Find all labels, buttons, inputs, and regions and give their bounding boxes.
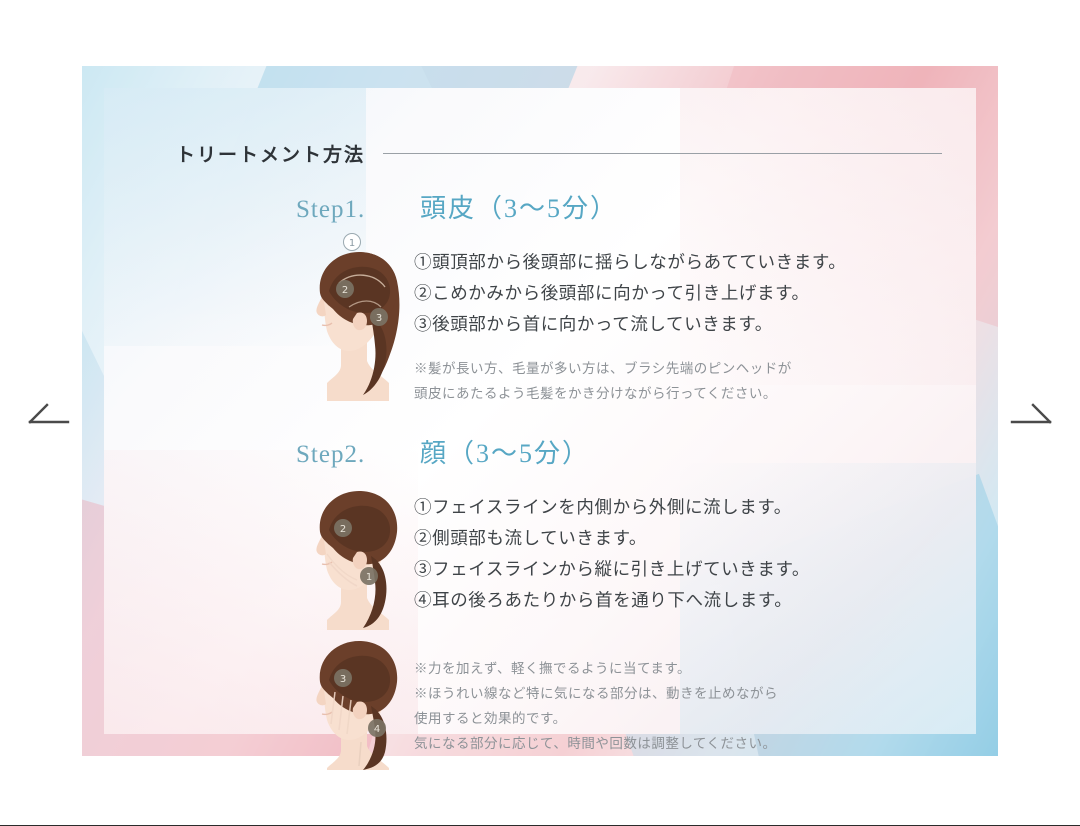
svg-text:4: 4 — [374, 724, 380, 735]
step-2-heading: Step2. 顔（3〜5分） — [104, 433, 976, 470]
step-2-note: ※力を加えず、軽く撫でるように当てます。 — [414, 656, 976, 681]
step-1-instruction: ②こめかみから後頭部に向かって引き上げます。 — [414, 278, 976, 309]
step-2-notes: ※力を加えず、軽く撫でるように当てます。 ※ほうれい線など特に気になる部分は、動… — [414, 656, 976, 756]
step-1-notes: ※髪が長い方、毛量が多い方は、ブラシ先端のピンヘッドが 頭皮にあたるよう毛髪をか… — [414, 356, 976, 406]
step-block-2: Step2. 顔（3〜5分） — [104, 433, 976, 770]
head-face-diagram-upper: 2 1 — [293, 478, 411, 630]
step-2-body: 2 1 ①フェイスラインを内側から外側に流します。 ②側頭部も流していきます。 … — [104, 478, 976, 630]
next-slide-arrow[interactable] — [1008, 396, 1054, 430]
header-divider — [383, 153, 942, 154]
step-2-text-column: ①フェイスラインを内側から外側に流します。 ②側頭部も流していきます。 ③フェイ… — [414, 478, 976, 616]
step-1-body: 1 2 3 ①頭頂部から後頭部に揺らしながらあてていきます。 — [104, 233, 976, 406]
page-title: トリートメント方法 — [176, 140, 365, 167]
head-face-diagram-lower: 3 4 — [293, 634, 411, 770]
svg-text:2: 2 — [340, 524, 346, 535]
step-2-note: 気になる部分に応じて、時間や回数は調整してください。 — [414, 731, 976, 756]
step-2-figure-column-2: 3 4 — [290, 634, 414, 770]
head-scalp-diagram: 1 2 3 — [293, 233, 411, 401]
step-2-instruction: ②側頭部も流していきます。 — [414, 523, 976, 554]
svg-text:3: 3 — [340, 674, 346, 685]
step-1-figure-column: 1 2 3 — [290, 233, 414, 401]
step-block-1: Step1. 頭皮（3〜5分） — [104, 188, 976, 406]
step-2-instruction: ④耳の後ろあたりから首を通り下へ流します。 — [414, 585, 976, 616]
card-sheet: トリートメント方法 Step1. 頭皮（3〜5分） — [104, 88, 976, 734]
previous-slide-arrow[interactable] — [26, 396, 72, 430]
svg-text:1: 1 — [349, 238, 355, 249]
step-2-figure-column: 2 1 — [290, 478, 414, 630]
svg-text:3: 3 — [376, 313, 382, 324]
svg-text:2: 2 — [342, 285, 348, 296]
step-1-text-column: ①頭頂部から後頭部に揺らしながらあてていきます。 ②こめかみから後頭部に向かって… — [414, 233, 976, 406]
treatment-method-slide: トリートメント方法 Step1. 頭皮（3〜5分） — [82, 66, 998, 756]
step-2-secondary-body: 3 4 ※力を加えず、軽く撫でるように当てます。 ※ほうれい線など特に気になる部… — [104, 634, 976, 770]
step-2-subject: 顔（3〜5分） — [420, 433, 590, 470]
step-1-subject: 頭皮（3〜5分） — [420, 188, 618, 225]
step-1-instruction: ③後頭部から首に向かって流していきます。 — [414, 309, 976, 340]
step-2-note: ※ほうれい線など特に気になる部分は、動きを止めながら — [414, 681, 976, 706]
step-2-note: 使用すると効果的です。 — [414, 706, 976, 731]
step-1-note: 頭皮にあたるよう毛髪をかき分けながら行ってください。 — [414, 381, 976, 406]
step-2-label: Step2. — [296, 441, 420, 469]
step-1-heading: Step1. 頭皮（3〜5分） — [104, 188, 976, 225]
svg-text:1: 1 — [366, 572, 372, 583]
step-1-instruction: ①頭頂部から後頭部に揺らしながらあてていきます。 — [414, 247, 976, 278]
step-1-note: ※髪が長い方、毛量が多い方は、ブラシ先端のピンヘッドが — [414, 356, 976, 381]
step-1-label: Step1. — [296, 196, 420, 224]
section-header: トリートメント方法 — [176, 140, 942, 167]
step-2-notes-column: ※力を加えず、軽く撫でるように当てます。 ※ほうれい線など特に気になる部分は、動… — [414, 634, 976, 756]
step-2-instruction: ③フェイスラインから縦に引き上げていきます。 — [414, 554, 976, 585]
step-2-instruction: ①フェイスラインを内側から外側に流します。 — [414, 492, 976, 523]
